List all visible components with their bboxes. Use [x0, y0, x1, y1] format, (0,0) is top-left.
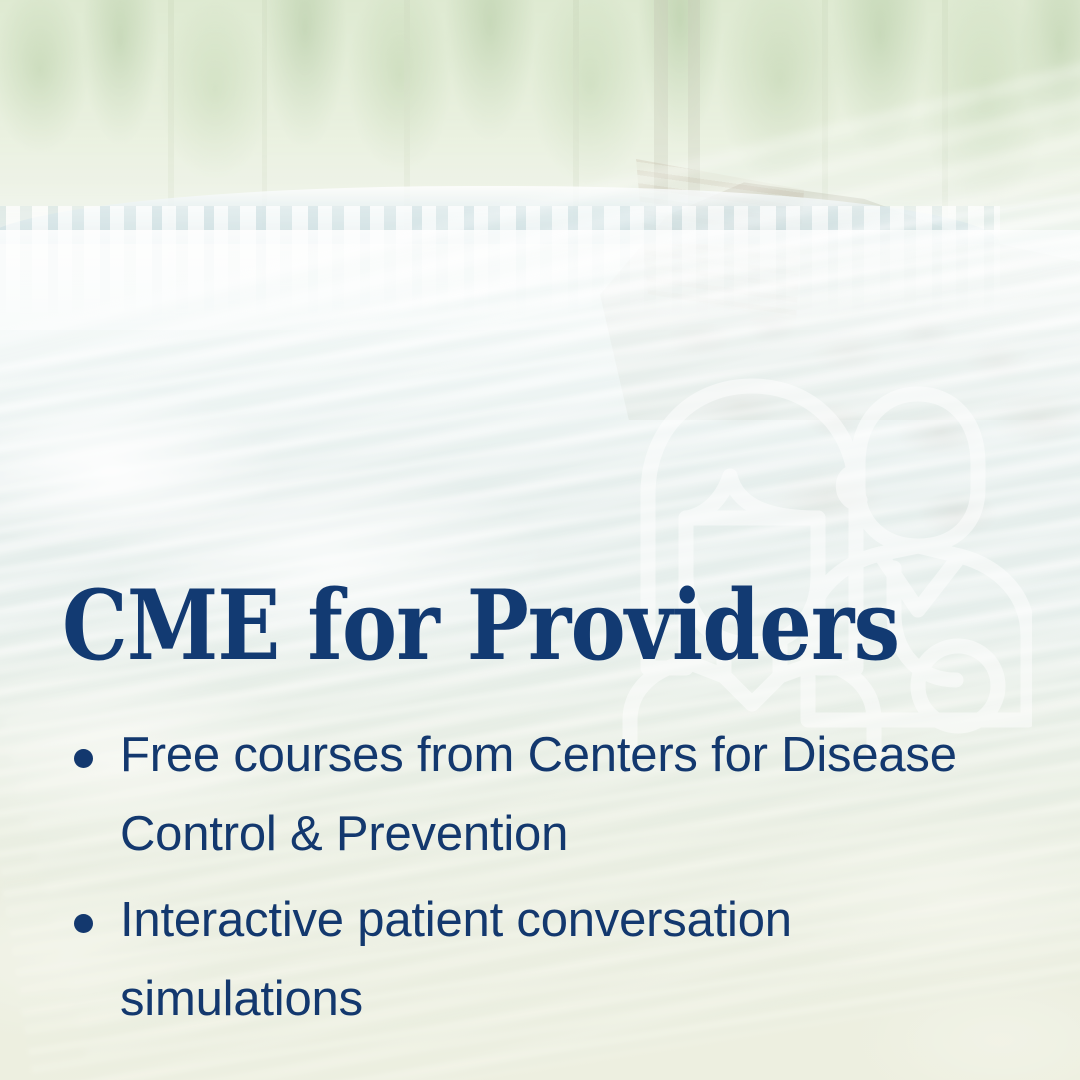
poster-text-content: CME for Providers Free courses from Cent…: [0, 0, 1080, 1080]
list-item-label: Free courses from Centers for Disease Co…: [120, 716, 992, 875]
bullet-dot-icon: [74, 914, 93, 933]
page-title: CME for Providers: [62, 578, 899, 674]
benefits-list: Free courses from Centers for Disease Co…: [62, 716, 992, 1046]
list-item-label: Interactive patient conversation simulat…: [120, 881, 992, 1040]
bullet-dot-icon: [74, 749, 93, 768]
poster-canvas: CME for Providers Free courses from Cent…: [0, 0, 1080, 1080]
list-item: Free courses from Centers for Disease Co…: [62, 716, 992, 875]
list-item: Interactive patient conversation simulat…: [62, 881, 992, 1040]
